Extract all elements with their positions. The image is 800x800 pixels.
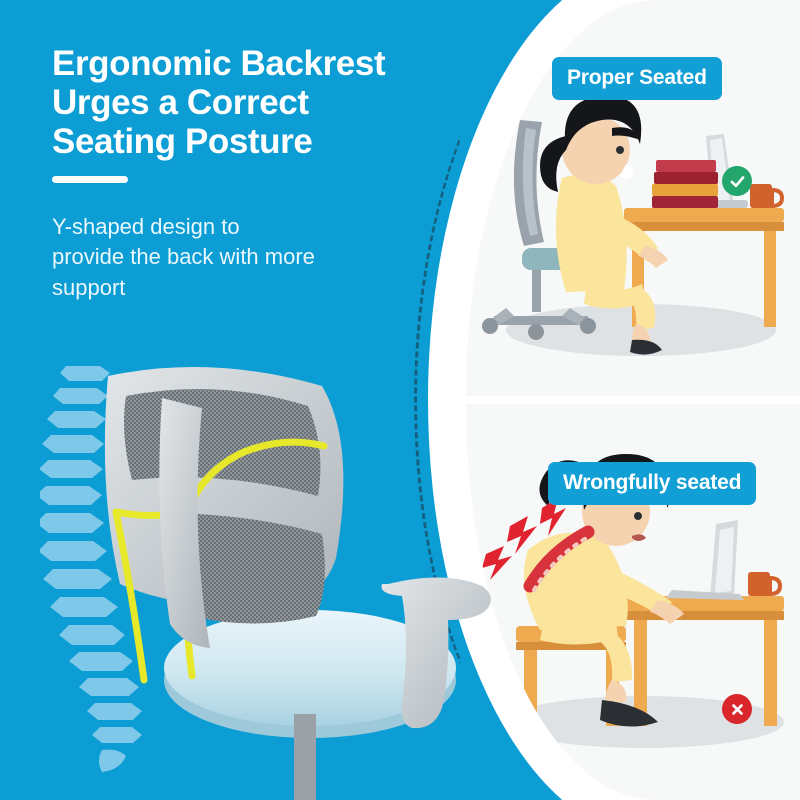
headline-line-3: Seating Posture [52, 122, 432, 161]
coffee-mug [748, 572, 780, 596]
headline-line-1: Ergonomic Backrest [52, 44, 432, 83]
product-infographic: Ergonomic Backrest Urges a Correct Seati… [0, 0, 800, 800]
badge-wrongfully-seated[interactable]: Wrongfully seated [548, 462, 756, 505]
book-stack [652, 160, 718, 208]
laptop [666, 520, 744, 600]
badge-proper-seated[interactable]: Proper Seated [552, 57, 722, 100]
title-divider [52, 176, 128, 183]
subtitle-line-1: Y-shaped design to [52, 212, 392, 242]
subtitle-line-2: provide the back with more [52, 242, 392, 272]
headline-line-2: Urges a Correct [52, 83, 432, 122]
subtitle: Y-shaped design to provide the back with… [52, 212, 392, 303]
check-icon [728, 172, 747, 191]
status-badge-correct [722, 166, 752, 196]
ergonomic-mesh-office-chair [98, 362, 518, 800]
status-badge-incorrect [722, 694, 752, 724]
x-icon [728, 700, 747, 719]
subtitle-line-3: support [52, 273, 392, 303]
page-title: Ergonomic Backrest Urges a Correct Seati… [52, 44, 432, 162]
coffee-mug [750, 184, 782, 208]
